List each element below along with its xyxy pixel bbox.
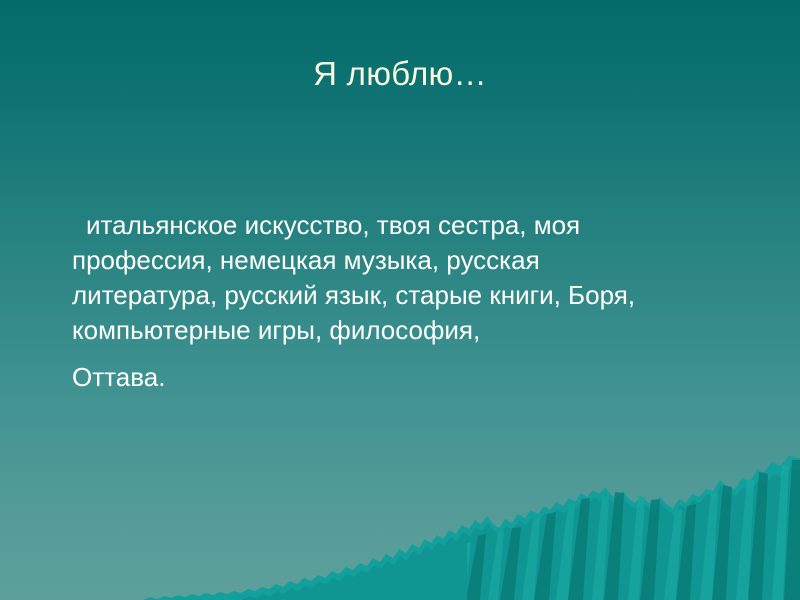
body-paragraph-main: итальянское искусство, твоя сестра, моя … (72, 208, 692, 348)
slide-canvas: Я люблю… итальянское искусство, твоя сес… (0, 0, 800, 600)
body-paragraph-last: Оттава. (72, 360, 692, 395)
mountain-ridge-striations (306, 460, 800, 600)
mountain-base-layer (143, 456, 800, 600)
page-title: Я люблю… (0, 54, 800, 94)
mountain-highlight-striations (420, 465, 789, 600)
mountain-foreground-bumps (300, 540, 467, 600)
slide-body: итальянское искусство, твоя сестра, моя … (72, 208, 692, 395)
mountain-mid-layer (242, 468, 800, 600)
